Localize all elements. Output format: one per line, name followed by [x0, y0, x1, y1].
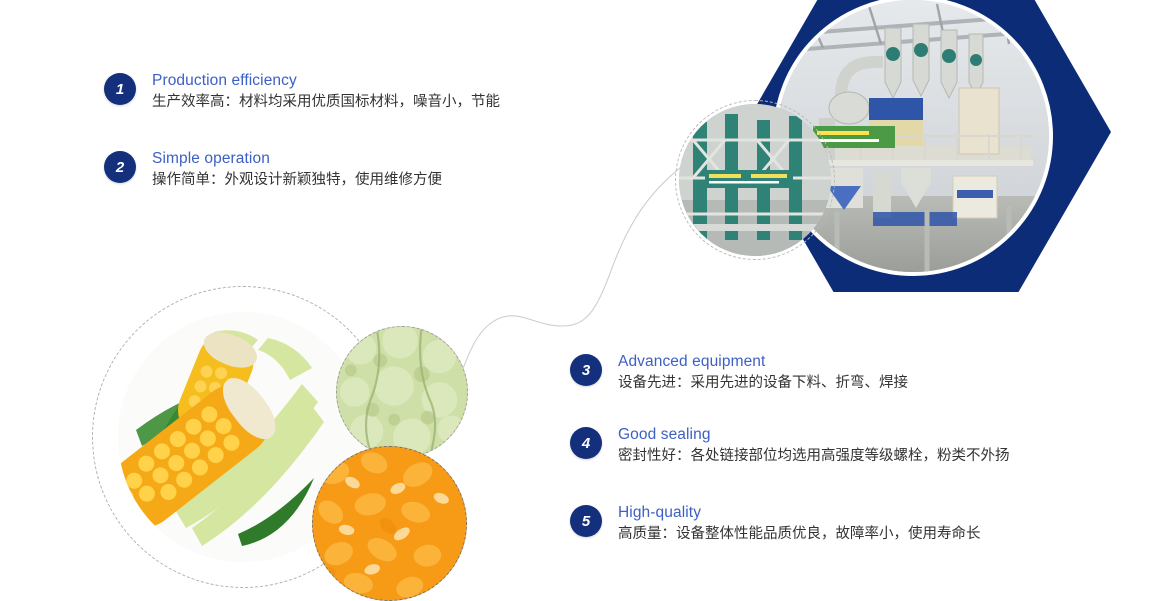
feature-text-2: Simple operation 操作简单：外观设计新颖独特，使用维修方便	[152, 150, 442, 191]
secondary-plant-photo	[679, 104, 831, 256]
feature-item-1[interactable]: 1 Production efficiency 生产效率高：材料均采用优质国标材…	[104, 72, 500, 113]
feature-badge-1: 1	[104, 73, 136, 105]
feature-desc-cn-3: 设备先进：采用先进的设备下料、折弯、焊接	[618, 373, 908, 394]
infographic-canvas: 1 Production efficiency 生产效率高：材料均采用优质国标材…	[0, 0, 1154, 591]
feature-badge-2: 2	[104, 151, 136, 183]
feature-item-2[interactable]: 2 Simple operation 操作简单：外观设计新颖独特，使用维修方便	[104, 150, 442, 191]
feature-title-en-5: High-quality	[618, 504, 981, 522]
feature-item-3[interactable]: 3 Advanced equipment 设备先进：采用先进的设备下料、折弯、焊…	[570, 353, 908, 394]
corn-grits-photo	[312, 446, 467, 601]
corn-flour-photo	[336, 326, 468, 458]
feature-text-4: Good sealing 密封性好：各处链接部位均选用高强度等级螺栓，粉类不外扬	[618, 426, 1010, 467]
feature-title-en-1: Production efficiency	[152, 72, 500, 90]
feature-title-en-2: Simple operation	[152, 150, 442, 168]
feature-item-4[interactable]: 4 Good sealing 密封性好：各处链接部位均选用高强度等级螺栓，粉类不…	[570, 426, 1010, 467]
feature-desc-cn-4: 密封性好：各处链接部位均选用高强度等级螺栓，粉类不外扬	[618, 446, 1010, 467]
feature-badge-5: 5	[570, 505, 602, 537]
feature-title-en-3: Advanced equipment	[618, 353, 908, 371]
feature-text-1: Production efficiency 生产效率高：材料均采用优质国标材料，…	[152, 72, 500, 113]
feature-badge-4: 4	[570, 427, 602, 459]
feature-title-en-4: Good sealing	[618, 426, 1010, 444]
feature-text-3: Advanced equipment 设备先进：采用先进的设备下料、折弯、焊接	[618, 353, 908, 394]
feature-desc-cn-2: 操作简单：外观设计新颖独特，使用维修方便	[152, 170, 442, 191]
feature-item-5[interactable]: 5 High-quality 高质量：设备整体性能品质优良，故障率小，使用寿命长	[570, 504, 981, 545]
feature-desc-cn-5: 高质量：设备整体性能品质优良，故障率小，使用寿命长	[618, 524, 981, 545]
feature-badge-3: 3	[570, 354, 602, 386]
feature-desc-cn-1: 生产效率高：材料均采用优质国标材料，噪音小，节能	[152, 92, 500, 113]
feature-text-5: High-quality 高质量：设备整体性能品质优良，故障率小，使用寿命长	[618, 504, 981, 545]
